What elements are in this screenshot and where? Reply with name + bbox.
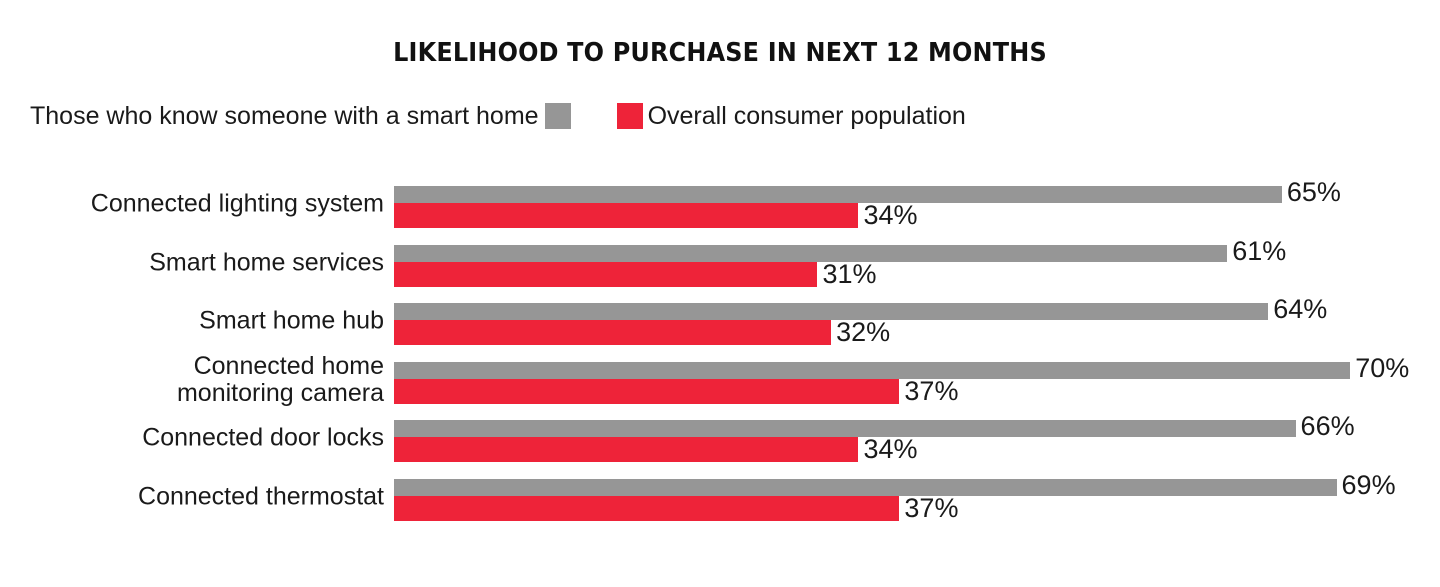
bar-known-someone xyxy=(394,420,1296,437)
bar-value-label: 70% xyxy=(1355,355,1409,382)
bar-row-known-someone: 61% xyxy=(394,245,1434,262)
bar-row-overall-population: 34% xyxy=(394,203,1434,228)
bar-pair: 70%37% xyxy=(394,362,1434,405)
bar-row-overall-population: 31% xyxy=(394,262,1434,287)
bar-value-label: 34% xyxy=(863,436,917,463)
bar-row-overall-population: 32% xyxy=(394,320,1434,345)
legend-swatch-red-icon xyxy=(617,103,643,129)
bar-value-label: 31% xyxy=(822,261,876,288)
bar-pair: 69%37% xyxy=(394,479,1434,522)
bar-overall-population xyxy=(394,262,817,287)
bar-known-someone xyxy=(394,479,1337,496)
bar-value-label: 37% xyxy=(904,378,958,405)
bar-pair: 61%31% xyxy=(394,245,1434,288)
bar-group: Smart home hub64%32% xyxy=(0,295,1440,347)
bar-row-overall-population: 37% xyxy=(394,379,1434,404)
bar-pair: 64%32% xyxy=(394,303,1434,346)
bar-pair: 65%34% xyxy=(394,186,1434,229)
bar-value-label: 66% xyxy=(1301,413,1355,440)
bar-group: Connected door locks66%34% xyxy=(0,412,1440,464)
bar-row-overall-population: 37% xyxy=(394,496,1434,521)
category-label: Connected home monitoring camera xyxy=(0,353,384,407)
chart-legend: Those who know someone with a smart home… xyxy=(30,98,1410,134)
bar-overall-population xyxy=(394,496,899,521)
bar-row-overall-population: 34% xyxy=(394,437,1434,462)
bar-value-label: 69% xyxy=(1342,472,1396,499)
category-label: Smart home services xyxy=(0,249,384,276)
legend-label-overall-population: Overall consumer population xyxy=(648,104,966,129)
category-label: Connected lighting system xyxy=(0,191,384,218)
chart-title: LIKELIHOOD TO PURCHASE IN NEXT 12 MONTHS xyxy=(58,38,1383,68)
bar-value-label: 65% xyxy=(1287,179,1341,206)
bar-group: Connected home monitoring camera70%37% xyxy=(0,354,1440,406)
bar-overall-population xyxy=(394,203,858,228)
legend-swatch-gray-icon xyxy=(545,103,571,129)
bar-group: Connected thermostat69%37% xyxy=(0,471,1440,523)
bar-overall-population xyxy=(394,379,899,404)
bar-known-someone xyxy=(394,245,1227,262)
chart-plot-area: Connected lighting system65%34%Smart hom… xyxy=(0,178,1440,548)
bar-row-known-someone: 64% xyxy=(394,303,1434,320)
legend-item-overall-population: Overall consumer population xyxy=(617,103,966,129)
bar-group: Smart home services61%31% xyxy=(0,237,1440,289)
bar-value-label: 34% xyxy=(863,202,917,229)
bar-pair: 66%34% xyxy=(394,420,1434,463)
bar-known-someone xyxy=(394,303,1268,320)
bar-overall-population xyxy=(394,437,858,462)
bar-value-label: 61% xyxy=(1232,238,1286,265)
bar-known-someone xyxy=(394,362,1350,379)
bar-value-label: 32% xyxy=(836,319,890,346)
bar-known-someone xyxy=(394,186,1282,203)
category-label: Connected thermostat xyxy=(0,483,384,510)
category-label: Connected door locks xyxy=(0,425,384,452)
bar-value-label: 37% xyxy=(904,495,958,522)
legend-label-known-someone: Those who know someone with a smart home xyxy=(30,104,539,129)
bar-group: Connected lighting system65%34% xyxy=(0,178,1440,230)
bar-overall-population xyxy=(394,320,831,345)
bar-value-label: 64% xyxy=(1273,296,1327,323)
legend-item-known-someone: Those who know someone with a smart home xyxy=(30,103,571,129)
category-label: Smart home hub xyxy=(0,308,384,335)
